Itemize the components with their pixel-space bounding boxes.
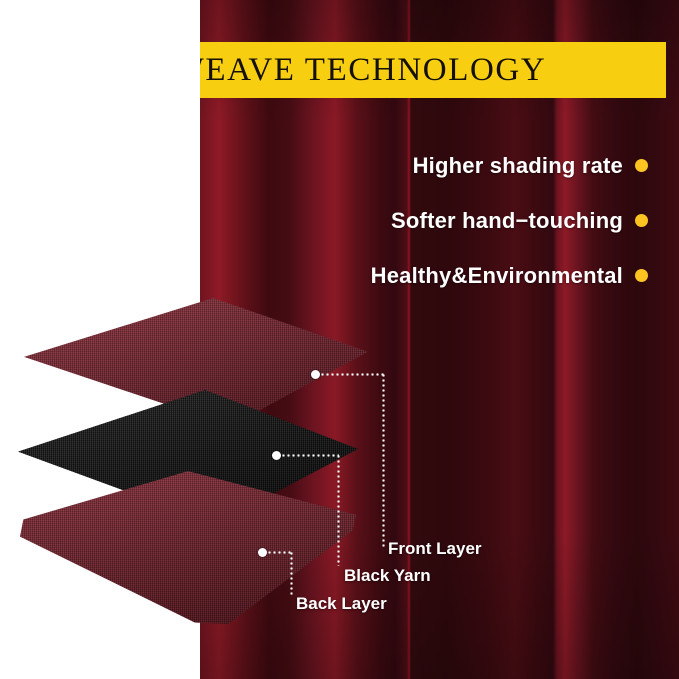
- callout-leader-vertical-front-layer: [382, 373, 385, 549]
- callout-dot-back-layer: [258, 548, 267, 557]
- product-infographic: TRIPLE WEAVE TECHNOLOGY Higher shading r…: [0, 0, 679, 679]
- callout-dot-front-layer: [311, 370, 320, 379]
- yellow-dot-icon: [635, 269, 648, 282]
- yellow-dot-icon: [635, 214, 648, 227]
- callout-leader-vertical-black-yarn: [337, 454, 340, 566]
- feature-label: Softer hand−touching: [391, 208, 623, 234]
- callout-leader-vertical-back-layer: [290, 551, 293, 595]
- feature-item-healthy-environmental: Healthy&Environmental: [300, 248, 648, 303]
- yellow-dot-icon: [635, 159, 648, 172]
- feature-label: Higher shading rate: [413, 153, 623, 179]
- feature-item-higher-shading-rate: Higher shading rate: [300, 138, 648, 193]
- callout-leader-horizontal-front-layer: [320, 373, 384, 376]
- feature-label: Healthy&Environmental: [371, 263, 623, 289]
- callout-label-back-layer: Back Layer: [296, 594, 387, 614]
- callout-label-front-layer: Front Layer: [388, 539, 482, 559]
- feature-item-softer-hand-touching: Softer hand−touching: [300, 193, 648, 248]
- feature-list: Higher shading rate Softer hand−touching…: [300, 138, 648, 303]
- callout-dot-black-yarn: [272, 451, 281, 460]
- callout-leader-horizontal-black-yarn: [281, 454, 339, 457]
- callout-label-black-yarn: Black Yarn: [344, 566, 431, 586]
